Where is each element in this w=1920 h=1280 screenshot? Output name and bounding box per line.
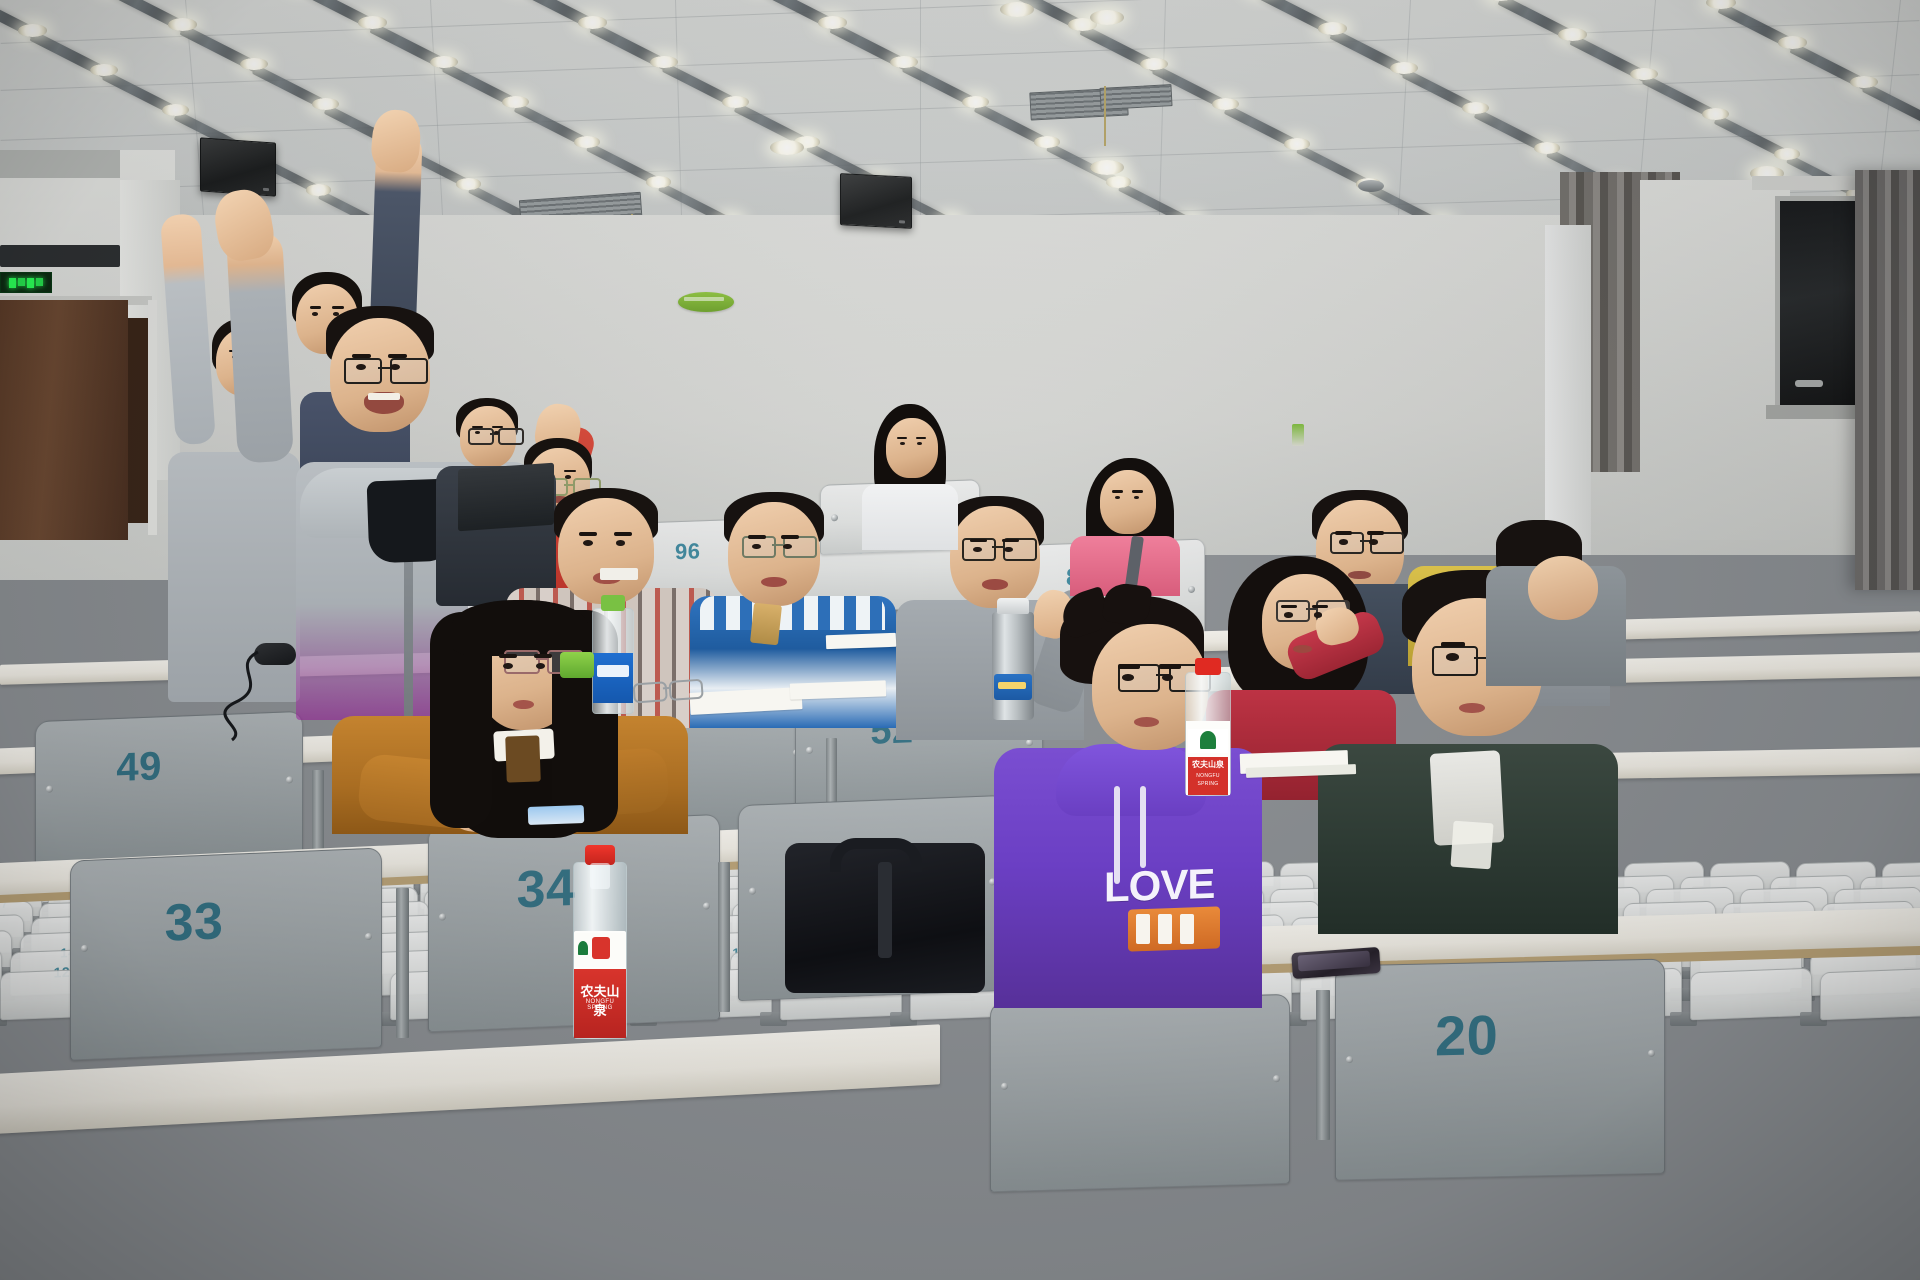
person-mouth <box>513 700 534 709</box>
eyeglass-bridge <box>378 367 390 369</box>
ceiling-downlight <box>18 24 47 37</box>
seat-rivet <box>439 913 446 920</box>
notebook-paper <box>790 680 886 699</box>
eyeglass-lens <box>344 358 382 384</box>
ceiling-downlight <box>574 136 600 148</box>
ceiling-downlight <box>1000 2 1034 17</box>
person-eyebrow <box>579 532 597 536</box>
person-head <box>1528 556 1598 620</box>
ceiling-downlight <box>962 96 989 108</box>
ceiling-downlight <box>1774 148 1800 160</box>
bottle-logo-mountain <box>578 941 588 955</box>
window-reflection <box>1795 380 1823 387</box>
person-eyebrow <box>534 654 552 658</box>
person-eyebrow <box>897 437 907 439</box>
person-mouth <box>1348 571 1371 580</box>
eyeglasses <box>344 358 424 380</box>
ceiling-air-vent <box>1099 84 1172 110</box>
ceiling-downlight <box>1090 160 1124 175</box>
eyeglasses-on-desk <box>632 677 705 702</box>
hoodie-graphic-detail <box>1158 914 1172 944</box>
ceiling-downlight <box>722 96 749 108</box>
bottle-brand-en: NONGFU SPRING <box>1188 772 1228 780</box>
eyeglasses <box>468 428 520 441</box>
seat: 20 <box>1335 959 1665 1181</box>
seat-rivet <box>1648 1050 1655 1057</box>
person-eyebrow <box>970 539 987 543</box>
bottle-neck <box>590 863 610 889</box>
person-eyebrow <box>1118 664 1140 668</box>
left-ceiling-beam <box>0 245 120 267</box>
person-eyebrow <box>310 306 322 308</box>
person-eye <box>390 364 400 370</box>
person-teeth <box>368 393 400 400</box>
bottle-label-text <box>597 665 629 677</box>
seat-number: 20 <box>1435 1002 1498 1068</box>
hoodie-graphic-detail <box>1136 914 1150 944</box>
ceiling-downlight <box>1034 136 1060 148</box>
ceiling-downlight <box>1106 176 1131 188</box>
exit-glyph <box>18 278 25 286</box>
person-eyebrow <box>1159 664 1181 668</box>
seat-rivet <box>1273 1075 1280 1082</box>
wall-speaker-left <box>200 137 276 196</box>
seat-rivet <box>806 746 813 753</box>
eyeglass-lens <box>390 358 428 384</box>
bottle-logo-box <box>592 937 610 959</box>
seat-rivet <box>81 945 88 952</box>
person-eyebrow <box>614 532 632 536</box>
exit-sign-glyphs <box>9 278 43 288</box>
person-torso <box>862 484 958 550</box>
ceiling-downlight <box>1534 142 1560 154</box>
seat <box>990 994 1290 1192</box>
backpack-seam <box>878 862 892 958</box>
person-eyebrow <box>352 354 371 358</box>
person-eyebrow <box>564 470 576 472</box>
necklace-pendant <box>750 603 782 646</box>
ceiling-grid-line <box>1 0 1920 44</box>
person-eyebrow <box>388 354 407 358</box>
person-eyebrow <box>1335 531 1352 534</box>
person-eye <box>312 312 318 316</box>
ceiling-downlight <box>578 16 607 29</box>
shirt-collar <box>600 568 638 580</box>
person-head <box>558 498 654 604</box>
exit-sign <box>0 272 52 293</box>
person-mouth <box>1293 645 1312 653</box>
seat-rivet <box>749 888 756 895</box>
seat-rivet <box>1188 586 1195 593</box>
exit-glyph <box>27 278 34 288</box>
ceiling-downlight <box>818 16 847 29</box>
person-eye <box>1284 612 1293 617</box>
ceiling-downlight <box>502 96 529 108</box>
seat-number: 33 <box>165 891 224 953</box>
seat-number: 49 <box>116 745 162 792</box>
person-head <box>1100 470 1156 534</box>
person-eyebrow <box>332 306 344 308</box>
ceiling-downlight <box>1558 28 1587 41</box>
person-eye <box>1314 612 1323 617</box>
green-cup <box>560 652 594 678</box>
shirt-placket <box>1450 821 1493 870</box>
seat-rivet <box>1346 1056 1353 1063</box>
seat-rivet <box>831 515 838 522</box>
mouse-cable <box>196 648 276 738</box>
eyeglass-bridge <box>992 546 1003 548</box>
seat-rivet <box>365 933 372 940</box>
person-eyebrow <box>1132 490 1143 492</box>
ceiling-downlight <box>1462 102 1489 114</box>
person-mouth <box>982 579 1007 589</box>
eyeglass-lens <box>1432 646 1478 676</box>
person-eye <box>1339 539 1348 544</box>
seat-rivet <box>1001 1082 1008 1089</box>
neck-tie <box>505 735 541 782</box>
seat-leg <box>718 862 730 1012</box>
bottle-logo-mountain <box>1200 731 1216 749</box>
blue-pencil-case <box>528 805 585 825</box>
eyeglass-bridge <box>772 544 783 546</box>
ceiling-downlight <box>646 176 671 188</box>
backpack-handle <box>830 838 922 872</box>
seat <box>1690 968 1812 1021</box>
seat-rivet <box>286 776 293 783</box>
water-bottle-green <box>592 608 634 714</box>
person-head <box>886 418 938 478</box>
person-arm <box>226 231 294 464</box>
exit-glyph <box>36 278 43 286</box>
eyeglass-lens <box>1276 600 1310 622</box>
person-eye <box>1369 539 1378 544</box>
seat <box>1820 968 1920 1021</box>
ceiling-downlight <box>312 98 339 110</box>
person-eyebrow <box>1112 490 1123 492</box>
eyeglass-lens <box>633 681 668 703</box>
ceiling-downlight <box>168 18 197 31</box>
seat-rivet <box>703 902 710 909</box>
ceiling-downlight <box>1090 10 1124 25</box>
bottle-label <box>593 653 633 703</box>
eyeglass-lens <box>498 428 524 445</box>
laptop <box>458 463 554 532</box>
bottle-cap-red <box>1195 658 1221 675</box>
left-soffit <box>0 150 120 178</box>
eyeglass-bridge <box>536 658 547 660</box>
hoodie-hood <box>1056 744 1206 816</box>
ceiling-downlight <box>1284 138 1310 150</box>
person-eyebrow <box>1281 605 1297 608</box>
ceiling-downlight <box>358 16 387 29</box>
ceiling-downlight <box>770 140 804 155</box>
eyeglass-lens <box>468 428 494 445</box>
person-eye <box>583 540 593 546</box>
eyeglass-lens <box>668 679 703 701</box>
person-mouth <box>1459 703 1485 713</box>
bottle-cap-red <box>585 845 615 865</box>
seat-number: 96 <box>675 539 700 566</box>
bottle-cap <box>601 595 625 611</box>
seat-leg <box>396 888 409 1038</box>
person-eye <box>536 663 546 669</box>
ceiling-downlight <box>1778 36 1807 49</box>
ceiling-downlight <box>1318 22 1347 35</box>
hoodie-drawstring <box>1140 786 1146 868</box>
person-eyebrow <box>1002 539 1019 543</box>
water-bottle-front: 农夫山泉NONGFU SPRING <box>573 862 627 1039</box>
person-eyebrow <box>1441 642 1466 647</box>
notebook-paper <box>826 633 896 649</box>
steel-thermos <box>992 612 1034 720</box>
ceiling-downlight <box>1702 108 1729 120</box>
seat-rivet <box>46 785 53 792</box>
person-hair-fringe <box>452 600 588 656</box>
person-eyebrow <box>499 654 517 658</box>
bottle-brand-cn: 农夫山泉 <box>1190 759 1226 770</box>
ceiling-downlight <box>162 104 189 116</box>
ceiling-downlight <box>1212 98 1239 110</box>
person-eyebrow <box>1367 531 1384 534</box>
person-eye <box>1446 653 1459 661</box>
water-bottle-right: 农夫山泉NONGFU SPRING <box>1185 672 1231 796</box>
lecture-hall-photo: 1771811711721551561801811821831391401611… <box>0 0 1920 1280</box>
ceiling-downlight <box>306 184 331 196</box>
seat-number: 34 <box>517 858 576 920</box>
person-hand <box>370 108 422 173</box>
person-eye <box>503 663 513 669</box>
wall-plaque-green <box>678 292 734 312</box>
ceiling-downlight <box>456 178 481 190</box>
person-eyebrow <box>472 426 483 428</box>
bottle-brand-en: NONGFU SPRING <box>574 999 626 1011</box>
thermos-cap <box>997 598 1029 614</box>
seat-leg <box>1316 990 1330 1140</box>
exit-glyph <box>9 278 16 288</box>
eyeglass-bridge <box>564 484 573 486</box>
ceiling-hanger-rod <box>1104 86 1106 146</box>
person-eyebrow <box>916 437 926 439</box>
hoodie-graphic-detail <box>1180 914 1194 944</box>
person-eye <box>356 364 366 370</box>
ceiling-sensor-dome <box>1358 180 1384 192</box>
thermos-label-mark <box>998 682 1026 689</box>
wall-marker-green <box>1292 424 1304 446</box>
person-eyebrow <box>1312 605 1328 608</box>
seat: 33 <box>70 847 382 1060</box>
hoodie-love-text: LOVE <box>1104 859 1254 910</box>
wall-plaque-text <box>684 297 724 301</box>
person-eyebrow <box>748 535 765 539</box>
person-eyebrow <box>781 535 798 539</box>
person-eyebrow <box>492 426 503 428</box>
wall-speaker-center <box>840 173 912 229</box>
